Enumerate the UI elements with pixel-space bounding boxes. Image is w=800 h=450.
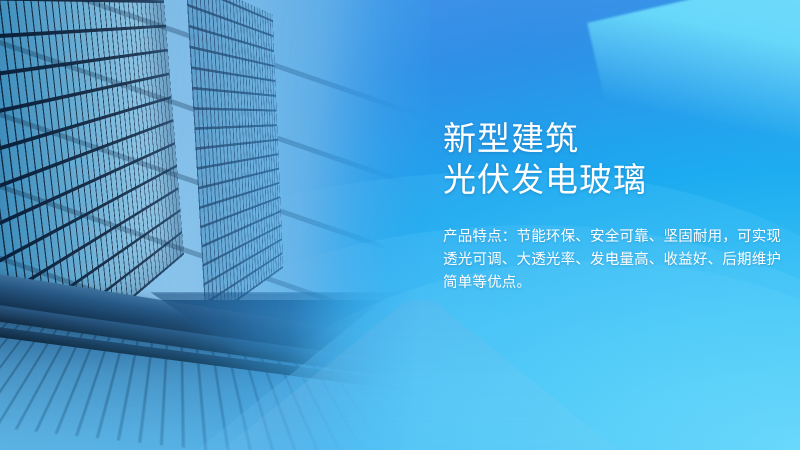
poster-title-line-2: 光伏发电玻璃 [443, 159, 783, 200]
poster-body-text: 产品特点：节能环保、安全可靠、坚固耐用，可实现透光可调、大透光率、发电量高、收益… [443, 226, 783, 295]
promotional-poster: 新型建筑 光伏发电玻璃 产品特点：节能环保、安全可靠、坚固耐用，可实现透光可调、… [0, 0, 800, 450]
text-content-block: 新型建筑 光伏发电玻璃 产品特点：节能环保、安全可靠、坚固耐用，可实现透光可调、… [443, 118, 783, 295]
poster-title-line-1: 新型建筑 [443, 118, 783, 159]
